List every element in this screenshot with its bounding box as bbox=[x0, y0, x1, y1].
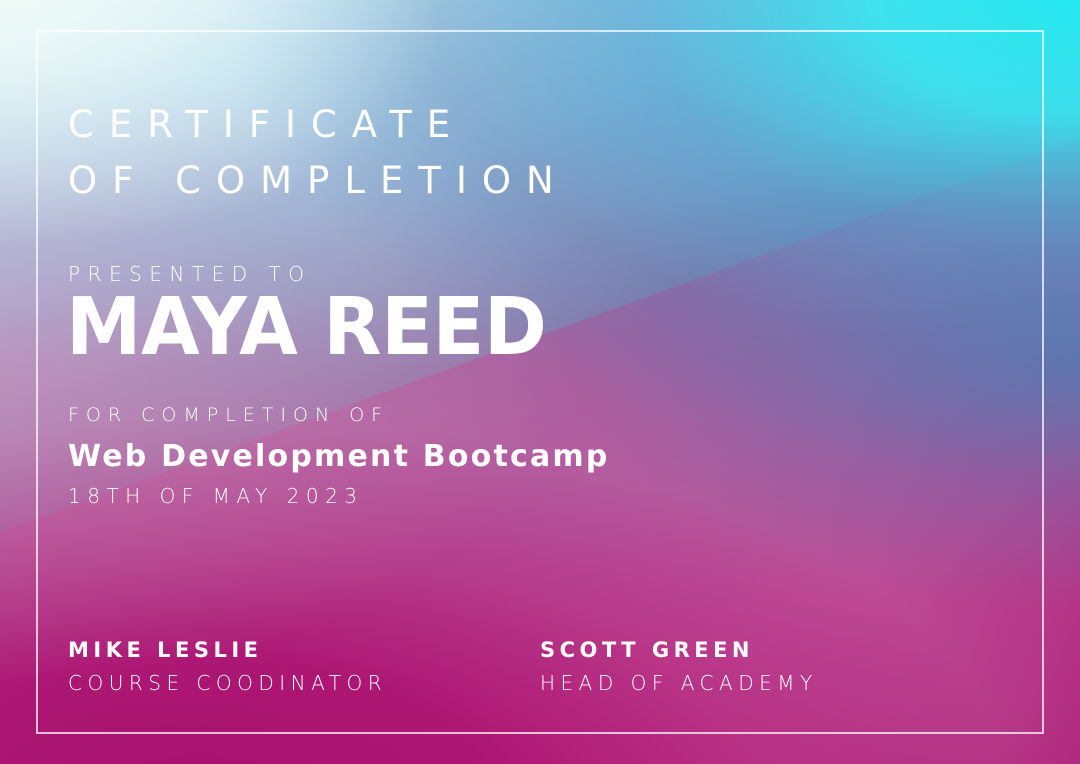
recipient-name: MAYA REED bbox=[66, 288, 546, 367]
signatory-1: MIKE LESLIE COURSE COODINATOR bbox=[68, 638, 387, 695]
course-name: Web Development Bootcamp bbox=[68, 439, 610, 474]
certificate-title-line-2: OF COMPLETION bbox=[68, 153, 569, 209]
certificate-title-line-1: CERTIFICATE bbox=[68, 97, 569, 153]
signatory-2: SCOTT GREEN HEAD OF ACADEMY bbox=[540, 638, 818, 695]
completion-date: 18TH OF MAY 2023 bbox=[68, 484, 610, 508]
signatory-2-role: HEAD OF ACADEMY bbox=[540, 671, 818, 695]
certificate-title: CERTIFICATE OF COMPLETION bbox=[68, 97, 569, 209]
course-block: FOR COMPLETION OF Web Development Bootca… bbox=[68, 404, 610, 508]
signatory-2-name: SCOTT GREEN bbox=[540, 638, 818, 662]
certificate-canvas: CERTIFICATE OF COMPLETION PRESENTED TO M… bbox=[0, 0, 1080, 764]
course-completion-label: FOR COMPLETION OF bbox=[68, 404, 610, 426]
signatory-1-role: COURSE COODINATOR bbox=[68, 671, 387, 695]
signatory-1-name: MIKE LESLIE bbox=[68, 638, 387, 662]
certificate-content: CERTIFICATE OF COMPLETION PRESENTED TO M… bbox=[0, 0, 1080, 764]
